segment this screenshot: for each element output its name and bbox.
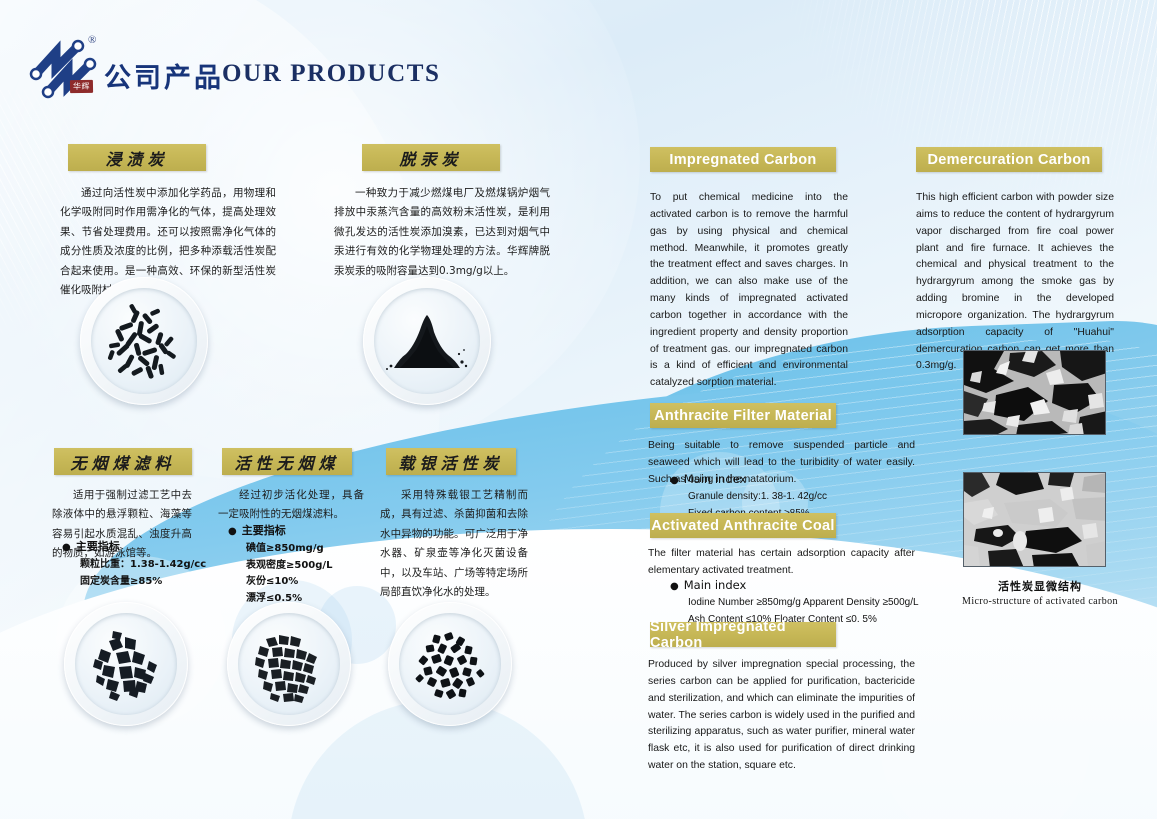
page-title-cn: 公司产品 [104,56,224,95]
registered-trademark-icon: ® [88,34,96,46]
powder-mound-illustration [374,288,480,394]
section-title-impregnated-carbon-cn: 浸渍炭 [68,144,206,171]
spec-heading: ●主要指标 [228,522,378,538]
product-photo-irregular-granules [64,602,188,726]
body-demercuration-carbon-cn: 一种致力于减少燃煤电厂及燃煤锅炉烟气排放中汞蒸汽含量的高效粉末活性炭，是利用微孔… [334,184,550,281]
spec-heading: ●Main index [670,472,930,486]
spec-line: 固定炭含量≥85% [62,574,222,591]
bullet-icon: ● [62,542,71,553]
spec-activated-anthracite-cn: ●主要指标 碘值≥850mg/g 表观密度≥500g/L 灰份≤10% 漂浮≤0… [228,522,378,607]
photo-inner [75,613,177,715]
product-photo-black-chips [388,602,512,726]
body-demercuration-carbon-en: This high efficient carbon with powder s… [916,190,1114,375]
micrograph-caption: 活性炭显微结构 Micro-structure of activated car… [940,578,1140,607]
brochure-page: ® 华辉 公司产品 OUR PRODUCTS 浸渍炭 通过向活性炭中添加化学药品… [0,0,1157,819]
spec-line: Granule density:1. 38-1. 42g/cc [670,489,930,506]
body-activated-anthracite-cn: 经过初步活化处理，具备一定吸附性的无烟煤滤料。 [218,486,364,525]
body-activated-anthracite-en: The filter material has certain adsorpti… [648,546,915,580]
spec-anthracite-filter-cn: ●主要指标 颗粒比重：1.38-1.42g/cc 固定炭含量≥85% [62,538,222,590]
granules-illustration [75,613,177,715]
product-photo-coarse-granules [227,602,351,726]
page-header: ® 华辉 公司产品 OUR PRODUCTS [0,0,1157,128]
page-title-en: OUR PRODUCTS [222,60,441,88]
section-title-demercuration-carbon-cn: 脱汞炭 [362,144,500,171]
spec-heading: ●主要指标 [62,538,222,554]
photo-inner [91,288,197,394]
sem-texture-top [964,351,1106,435]
bullet-icon: ● [670,581,679,592]
sem-image-bottom [963,472,1106,567]
micrograph-caption-cn: 活性炭显微结构 [940,578,1140,594]
spec-line: 表观密度≥500g/L [228,558,378,575]
pellets-illustration [91,288,197,394]
section-title-activated-anthracite-cn: 活性无烟煤 [222,448,352,475]
section-title-silver-impregnated-en: Silver Impregnated Carbon [650,622,836,647]
body-silver-impregnated-cn: 采用特殊载银工艺精制而成，具有过滤、杀菌抑菌和去除水中异物的功能。可广泛用于净水… [380,486,528,603]
black-chips-illustration [399,613,501,715]
body-silver-impregnated-en: Produced by silver impregnation special … [648,657,915,775]
section-title-anthracite-filter-en: Anthracite Filter Material [650,403,836,428]
coarse-granules-illustration [238,613,340,715]
body-impregnated-carbon-en: To put chemical medicine into the activa… [650,190,848,392]
spec-line: 灰份≤10% [228,574,378,591]
section-title-impregnated-carbon-en: Impregnated Carbon [650,147,836,172]
photo-inner [399,613,501,715]
logo-brand-tag: 华辉 [70,80,93,93]
photo-inner [238,613,340,715]
micrograph-caption-en: Micro-structure of activated carbon [940,596,1140,607]
spec-line: 碘值≥850mg/g [228,541,378,558]
spec-line: 颗粒比重：1.38-1.42g/cc [62,557,222,574]
section-title-activated-anthracite-en: Activated Anthracite Coal [650,513,836,538]
photo-inner [374,288,480,394]
section-title-anthracite-filter-cn: 无烟煤滤料 [54,448,192,475]
sem-image-top [963,350,1106,435]
spec-line: Iodine Number ≥850mg/g Apparent Density … [670,595,950,612]
product-photo-cylindrical-pellets [80,277,208,405]
section-title-demercuration-carbon-en: Demercuration Carbon [916,147,1102,172]
spec-heading: ●Main index [670,578,950,592]
bullet-icon: ● [228,526,237,537]
bullet-icon: ● [670,475,679,486]
product-photo-black-powder [363,277,491,405]
sem-texture-bottom [964,473,1106,567]
section-title-silver-impregnated-cn: 载银活性炭 [386,448,516,475]
company-logo: ® 华辉 [26,34,104,102]
